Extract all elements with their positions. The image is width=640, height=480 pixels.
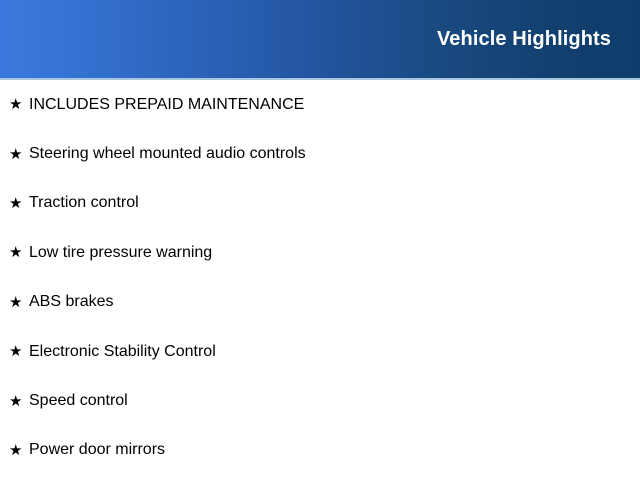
star-icon: ★ [9, 245, 29, 260]
list-item-label: ABS brakes [29, 292, 113, 312]
star-icon: ★ [9, 344, 29, 359]
list-item: ★ Speed control [0, 376, 640, 425]
star-icon: ★ [9, 196, 29, 211]
list-item-label: Steering wheel mounted audio controls [29, 144, 306, 164]
star-icon: ★ [9, 147, 29, 162]
header-banner: Vehicle Highlights [0, 0, 640, 78]
list-item-label: Traction control [29, 193, 139, 213]
page-title: Vehicle Highlights [437, 27, 611, 51]
list-item: ★ Power door mirrors [0, 426, 640, 475]
list-item: ★ Electronic Stability Control [0, 327, 640, 376]
list-item: ★ Steering wheel mounted audio controls [0, 129, 640, 178]
star-icon: ★ [9, 295, 29, 310]
star-icon: ★ [9, 97, 29, 112]
list-item: ★ ABS brakes [0, 278, 640, 327]
star-icon: ★ [9, 394, 29, 409]
star-icon: ★ [9, 443, 29, 458]
list-item: ★ INCLUDES PREPAID MAINTENANCE [0, 80, 640, 129]
list-item-label: Electronic Stability Control [29, 342, 216, 362]
vehicle-highlights-list: ★ INCLUDES PREPAID MAINTENANCE ★ Steerin… [0, 80, 640, 475]
list-item: ★ Traction control [0, 179, 640, 228]
list-item: ★ Low tire pressure warning [0, 228, 640, 277]
list-item-label: Speed control [29, 391, 128, 411]
list-item-label: Low tire pressure warning [29, 243, 212, 263]
vehicle-highlights-page: Vehicle Highlights ★ INCLUDES PREPAID MA… [0, 0, 640, 480]
list-item-label: INCLUDES PREPAID MAINTENANCE [29, 95, 304, 115]
list-item-label: Power door mirrors [29, 440, 165, 460]
